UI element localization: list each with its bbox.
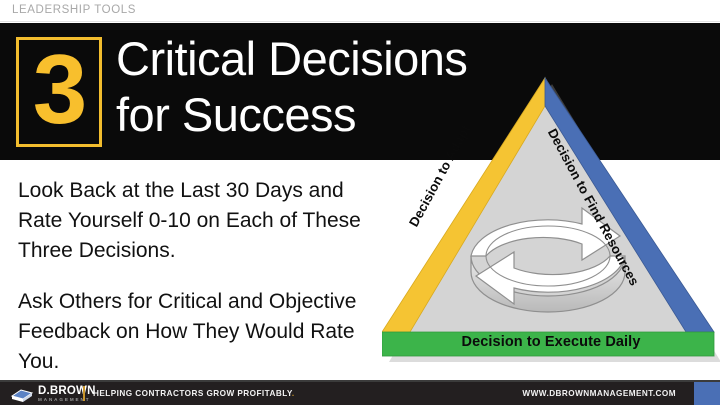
footer-tagline: HELPING CONTRACTORS GROW PROFITABLY. xyxy=(93,389,295,398)
triangle-base-label: Decision to Execute Daily xyxy=(382,334,720,350)
brand-subtitle: MANAGEMENT xyxy=(38,398,96,403)
footer-tagline-dot: . xyxy=(292,389,295,398)
triangle-interior xyxy=(382,78,714,356)
dbrown-book-icon xyxy=(10,387,34,403)
footer-accent-block xyxy=(694,382,720,405)
footer-bar: D.BROWN MANAGEMENT HELPING CONTRACTORS G… xyxy=(0,380,720,405)
body-paragraph-1: Look Back at the Last 30 Days and Rate Y… xyxy=(18,176,390,266)
footer-website-url: WWW.DBROWNMANAGEMENT.COM xyxy=(522,389,676,398)
footer-tagline-text: HELPING CONTRACTORS GROW PROFITABLY xyxy=(93,389,292,398)
brand-wordmark: D.BROWN MANAGEMENT xyxy=(38,386,96,403)
number-badge: 3 xyxy=(16,37,102,147)
body-copy: Look Back at the Last 30 Days and Rate Y… xyxy=(18,176,390,377)
slide-canvas: LEADERSHIP TOOLS 3 Critical Decisions fo… xyxy=(0,0,720,405)
eyebrow-label: LEADERSHIP TOOLS xyxy=(12,4,136,16)
three-decisions-triangle-diagram: Decision to Adapt Decision to Find Resou… xyxy=(382,70,720,370)
brand-name: D.BROWN xyxy=(38,386,96,398)
eyebrow-bar: LEADERSHIP TOOLS xyxy=(0,0,720,22)
body-paragraph-2: Ask Others for Critical and Objective Fe… xyxy=(18,287,390,377)
footer-divider xyxy=(83,386,85,401)
triangle-graphic xyxy=(382,70,720,370)
number-badge-value: 3 xyxy=(19,40,99,144)
